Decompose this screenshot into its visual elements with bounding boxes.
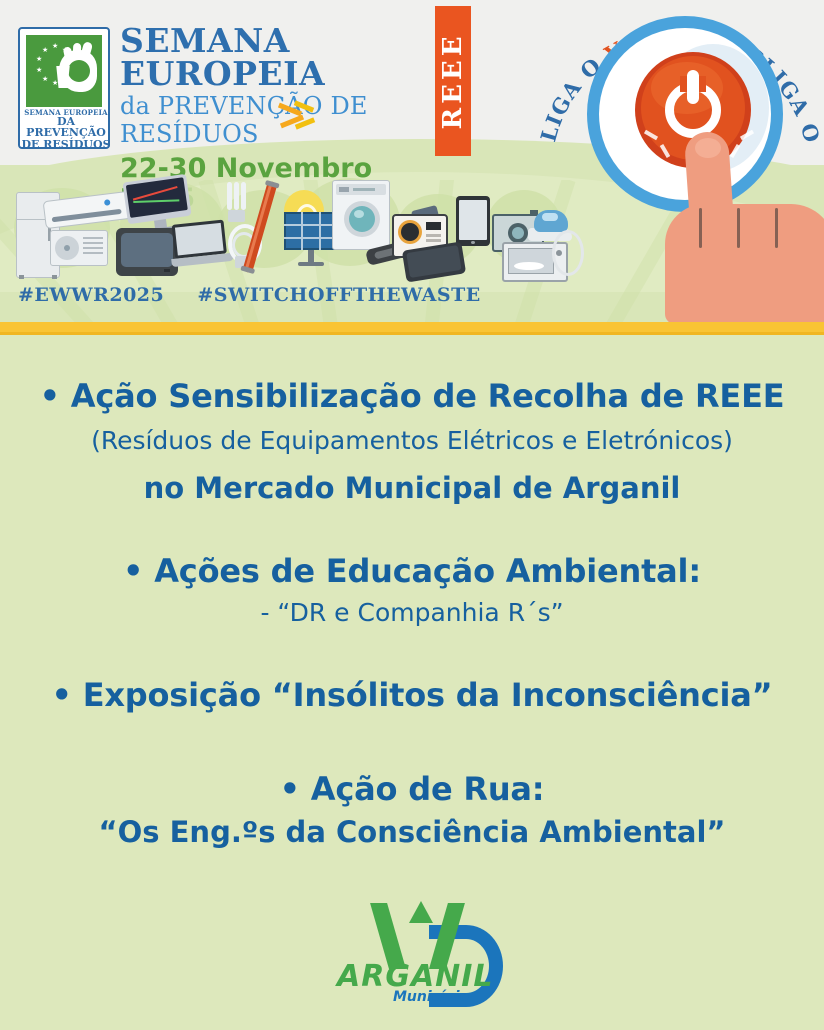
knuckle-line-2 — [737, 208, 740, 248]
wordmark-subtitle: da PREVENÇÃO DE RESÍDUOS — [120, 93, 430, 148]
item-1-note: (Resíduos de Equipamentos Elétricos e El… — [0, 427, 824, 456]
air-conditioner-outdoor-unit-icon — [50, 230, 108, 266]
reee-tag-label: REEE — [435, 6, 471, 156]
hashtags: #EWWR2025 #SWITCHOFFTHEWASTE — [18, 284, 507, 306]
item-3-title: • Exposição “Insólitos da Inconsciência” — [0, 678, 824, 714]
arganil-logo-subtitle: Município — [393, 989, 503, 1005]
power-cable-icon — [552, 230, 584, 276]
power-icon-bar — [687, 70, 699, 104]
slogan-badge: LIGA O VALOR, DESLIGA O RESÍDUO — [537, 0, 823, 326]
item-2-title: • Ações de Educação Ambiental: — [0, 554, 824, 590]
cfl-bulb-icon — [224, 182, 250, 226]
hashtag-switchoffthewaste: #SWITCHOFFTHEWASTE — [197, 284, 480, 306]
finger-nail — [695, 138, 721, 158]
hand-holding-cup-icon — [53, 40, 99, 102]
appliance-icon-strip — [0, 168, 560, 288]
wordmark-title: SEMANA EUROPEIA — [120, 24, 430, 90]
ewwr-logo: ★ ★ ★ ★ ★ ★ ★ ★ ★ ★ — [18, 27, 110, 149]
solar-panel-icon — [284, 212, 338, 268]
item-1-place: no Mercado Municipal de Arganil — [0, 472, 824, 504]
poster-header: ★ ★ ★ ★ ★ ★ ★ ★ ★ ★ — [0, 0, 824, 330]
reee-tag: REEE — [435, 6, 471, 156]
header-divider-shadow — [0, 332, 824, 335]
item-1-title: • Ação Sensibilização de Recolha de REEE — [0, 379, 824, 415]
ewwr-logo-emblem: ★ ★ ★ ★ ★ ★ ★ ★ ★ ★ — [26, 35, 102, 107]
item-2-detail: - “DR e Companhia R´s” — [0, 599, 824, 628]
ewwr-caption-line3: DE RESÍDUOS — [20, 139, 112, 150]
item-4-detail: “Os Eng.ºs da Consciência Ambiental” — [0, 816, 824, 848]
ewwr-logo-caption: SEMANA EUROPEIA DA PREVENÇÃO DE RESÍDUOS — [20, 109, 112, 150]
ewwr-caption-line2: DA PREVENÇÃO — [20, 116, 112, 138]
hashtag-ewwr: #EWWR2025 — [18, 284, 164, 306]
item-4-title: • Ação de Rua: — [0, 772, 824, 808]
knuckle-line-1 — [699, 208, 702, 248]
lightning-bolt-icon — [278, 103, 318, 133]
hand-icon — [665, 204, 824, 324]
poster-root: ★ ★ ★ ★ ★ ★ ★ ★ ★ ★ — [0, 0, 824, 1030]
knuckle-line-3 — [775, 208, 778, 248]
arganil-logo: ARGANIL Município — [337, 903, 507, 1008]
laptop-icon — [168, 219, 235, 273]
tablet-icon — [456, 196, 490, 246]
